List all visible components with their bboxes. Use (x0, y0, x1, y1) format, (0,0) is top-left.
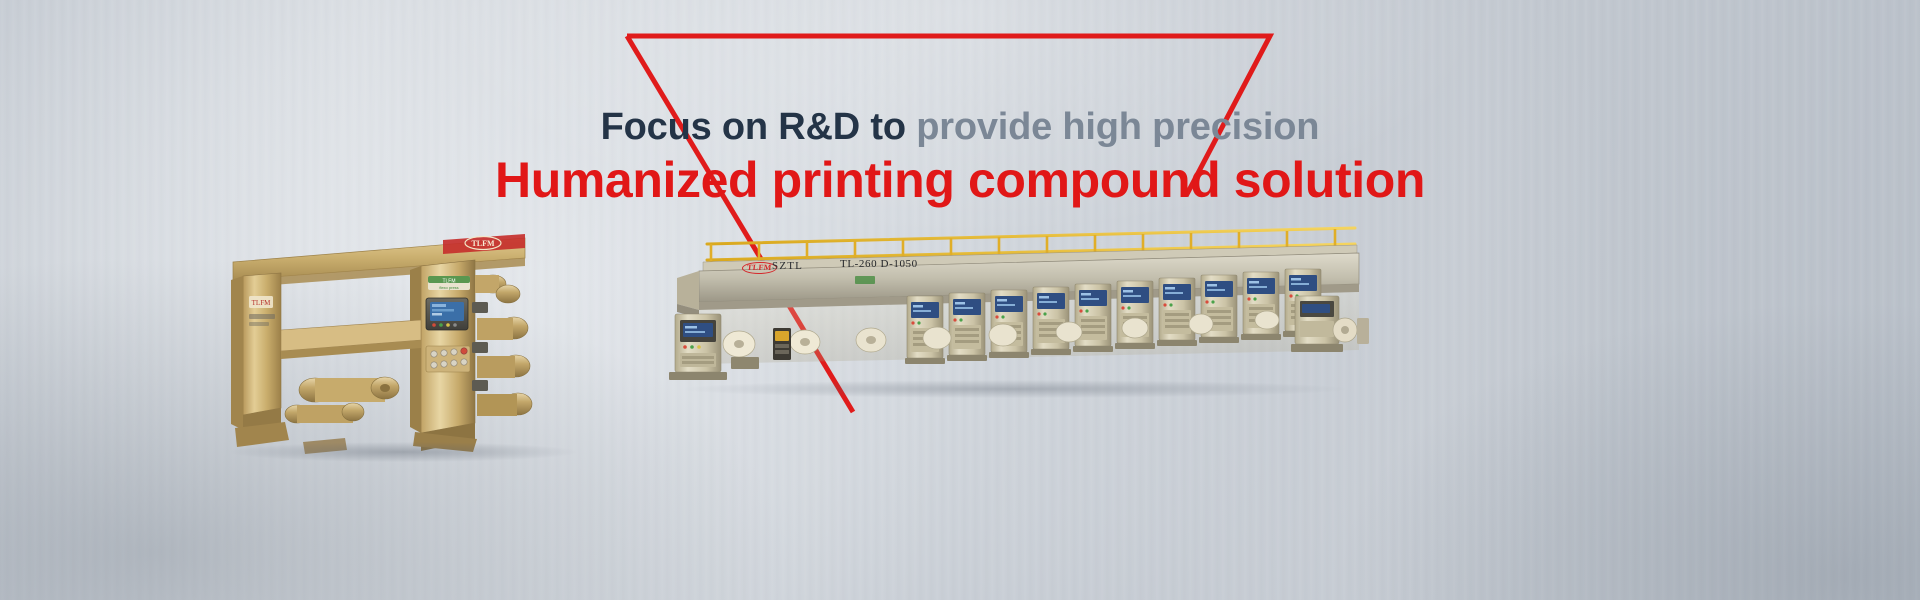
headline-line-1: Focus on R&D to provide high precision (0, 108, 1920, 148)
flexo-press-illustration: TLFM TLFM TLFM flexo press (225, 218, 585, 463)
svg-text:TLFM: TLFM (252, 299, 271, 307)
headline-line-2: Humanized printing compound solution (0, 154, 1920, 207)
svg-text:flexo press: flexo press (439, 285, 458, 290)
headline-line-1-light: provide high precision (916, 106, 1319, 148)
flexographic-printing-press: TLFM TLFM TLFM flexo press (225, 218, 585, 463)
headline-line-1-dark: Focus on R&D to (601, 106, 917, 148)
headline-block: Focus on R&D to provide high precision H… (0, 108, 1920, 206)
machine-brand-text: SZTL (772, 260, 803, 272)
machine-model-text: TL-260 D-1050 (840, 258, 918, 270)
machine-shadow-left (231, 442, 576, 462)
machine-shadow-right (685, 380, 1345, 398)
rotogravure-line-illustration (655, 222, 1375, 397)
svg-text:TLFM: TLFM (442, 279, 455, 285)
hero-banner: Focus on R&D to provide high precision H… (0, 0, 1920, 600)
rotogravure-printing-line: TLFM SZTL TL-260 D-1050 (655, 222, 1375, 397)
svg-text:TLFM: TLFM (471, 239, 495, 248)
